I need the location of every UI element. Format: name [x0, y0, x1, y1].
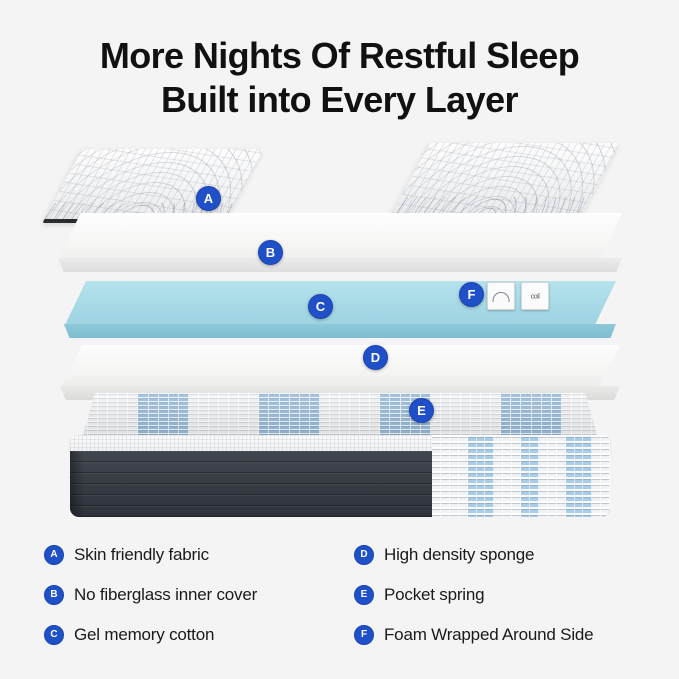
infographic-root: More Nights Of Restful Sleep Built into …	[0, 0, 679, 679]
layer-d-face	[60, 345, 620, 389]
layer-b-face	[58, 213, 622, 261]
legend-label-c: Gel memory cotton	[74, 625, 214, 645]
legend-label-d: High density sponge	[384, 545, 534, 565]
cutaway-coil-column	[566, 435, 575, 517]
cutaway-coil-column	[494, 435, 503, 517]
cutaway-coil-column	[477, 435, 486, 517]
legend: A Skin friendly fabric B No fiberglass i…	[0, 535, 679, 655]
cutaway-coil-column	[592, 435, 601, 517]
cutaway-coil-column	[485, 435, 494, 517]
badge-a-left: A	[196, 186, 221, 211]
cutaway-coil-column	[512, 435, 521, 517]
cutaway-coil-column	[575, 435, 584, 517]
cutaway-coil-column	[530, 435, 539, 517]
layer-b-edge	[58, 258, 622, 272]
inset-detail-coil-arc	[487, 282, 515, 310]
page-title: More Nights Of Restful Sleep Built into …	[0, 34, 679, 122]
cutaway-coil-column	[539, 435, 548, 517]
layer-d-high-density-sponge	[60, 345, 620, 389]
coil-arc-icon	[493, 292, 510, 302]
badge-d: D	[363, 345, 388, 370]
legend-badge-f: F	[354, 625, 374, 645]
cutaway-coil-column	[441, 435, 450, 517]
badge-c: C	[308, 294, 333, 319]
cutaway-coil-column	[450, 435, 459, 517]
layer-f-mattress-body	[70, 435, 610, 517]
cutaway-coil-column	[548, 435, 557, 517]
mattress-exploded-diagram: A B C D E F	[0, 135, 679, 515]
legend-item-a: A Skin friendly fabric	[44, 535, 257, 575]
legend-badge-e: E	[354, 585, 374, 605]
layer-a-quilted-panel-left	[42, 149, 263, 223]
layer-b-inner-cover	[58, 213, 622, 261]
title-line-1: More Nights Of Restful Sleep	[100, 35, 579, 76]
spring-cutaway-window	[432, 435, 610, 517]
layer-c-edge	[64, 324, 616, 338]
cutaway-coil-column	[557, 435, 566, 517]
legend-label-b: No fiberglass inner cover	[74, 585, 257, 605]
badge-e: E	[409, 398, 434, 423]
legend-label-a: Skin friendly fabric	[74, 545, 209, 565]
cutaway-coil-column	[432, 435, 441, 517]
legend-label-f: Foam Wrapped Around Side	[384, 625, 593, 645]
legend-column-right: D High density sponge E Pocket spring F …	[354, 535, 593, 655]
legend-label-e: Pocket spring	[384, 585, 484, 605]
cutaway-coil-column	[503, 435, 512, 517]
cutaway-coil-column	[583, 435, 592, 517]
legend-item-f: F Foam Wrapped Around Side	[354, 615, 593, 655]
legend-item-e: E Pocket spring	[354, 575, 593, 615]
layer-a-quilted-panel-right	[390, 143, 619, 217]
legend-badge-d: D	[354, 545, 374, 565]
legend-badge-b: B	[44, 585, 64, 605]
cutaway-coil-column	[521, 435, 530, 517]
inset-detail-label: coil	[531, 293, 540, 300]
cutaway-coil-column	[468, 435, 477, 517]
legend-badge-c: C	[44, 625, 64, 645]
inset-detail-coil-row: coil	[521, 282, 549, 310]
legend-item-d: D High density sponge	[354, 535, 593, 575]
legend-item-b: B No fiberglass inner cover	[44, 575, 257, 615]
legend-column-left: A Skin friendly fabric B No fiberglass i…	[44, 535, 257, 655]
title-line-2: Built into Every Layer	[0, 78, 679, 122]
legend-item-c: C Gel memory cotton	[44, 615, 257, 655]
badge-f: F	[459, 282, 484, 307]
badge-b: B	[258, 240, 283, 265]
cutaway-coil-column	[601, 435, 610, 517]
cutaway-coil-column	[459, 435, 468, 517]
legend-badge-a: A	[44, 545, 64, 565]
